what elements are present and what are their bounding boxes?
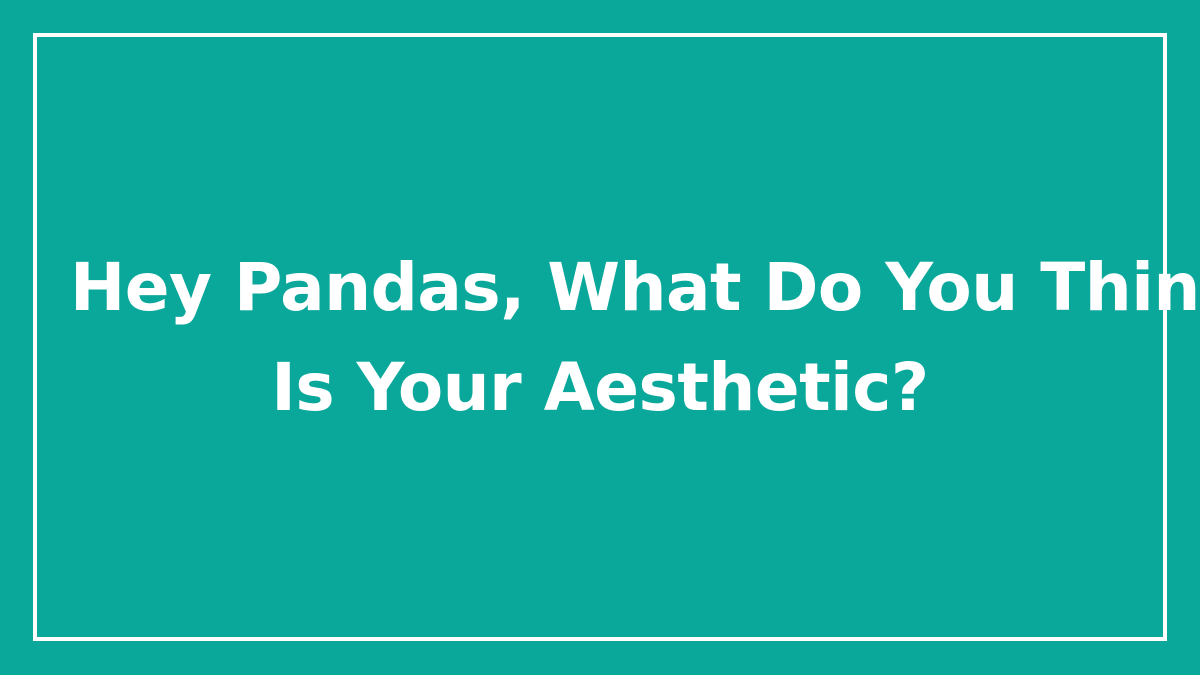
title-line-1: Hey Pandas, What Do You Think [70,238,1130,338]
title-line-2: Is Your Aesthetic? [70,338,1130,438]
page-title: Hey Pandas, What Do You Think Is Your Ae… [0,0,1200,675]
title-card: Hey Pandas, What Do You Think Is Your Ae… [0,0,1200,675]
